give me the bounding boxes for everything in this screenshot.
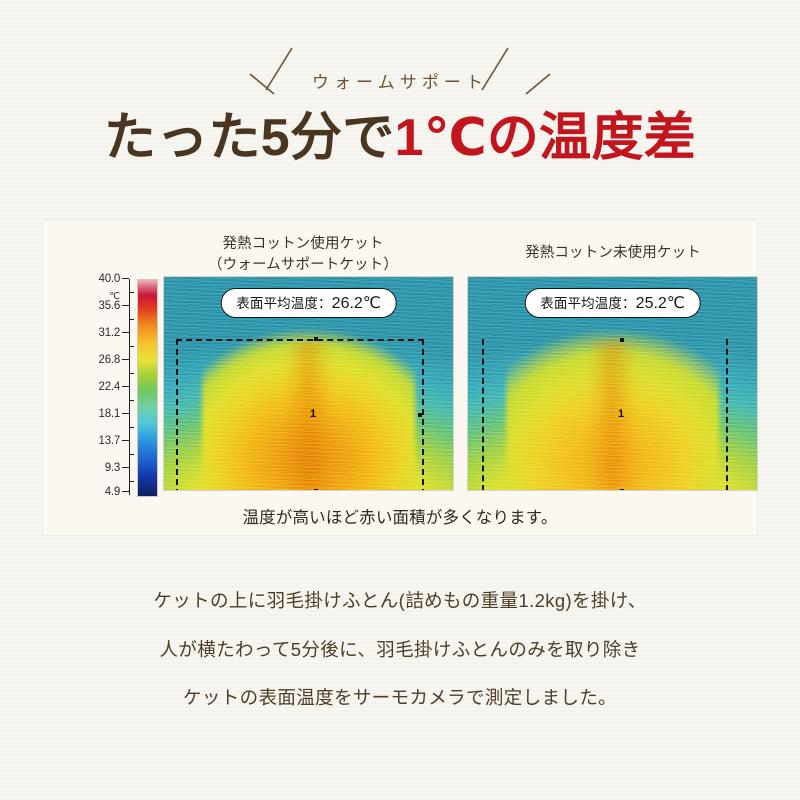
headline-brown: たった5分で — [104, 109, 394, 167]
comparison-card: 発熱コットン使用ケット （ウォームサポートケット） 発熱コットン未使用ケット 4… — [43, 220, 757, 535]
headline-red: 1℃の温度差 — [395, 109, 696, 167]
panel-title-left-line1: 発熱コットン使用ケット — [153, 234, 453, 255]
colorbar-axis-line — [129, 279, 130, 495]
badge-label-right: 表面平均温度： — [540, 296, 635, 311]
panel-title-right-line1: 発熱コットン未使用ケット — [463, 243, 763, 264]
measurement-box-right — [482, 339, 728, 491]
decorative-spark-right — [452, 46, 572, 106]
colorbar-tick-7: 9.3 — [105, 462, 129, 474]
measurement-box-left — [176, 339, 424, 491]
method-line-2: 人が横たわって5分後に、羽毛掛けふとんのみを取り除き — [0, 641, 800, 660]
colorbar-tick-4: 22.4 — [99, 381, 129, 393]
method-line-3: ケットの表面温度をサーモカメラで測定しました。 — [0, 689, 800, 708]
card-caption: 温度が高いほど赤い面積が多くなります。 — [43, 504, 757, 528]
temperature-colorbar-legend: 40.0 35.6 31.2 26.8 22.4 18.1 13.7 9.3 4… — [65, 276, 157, 498]
colorbar-tick-8: 4.9 — [105, 486, 129, 498]
panel-title-left: 発熱コットン使用ケット （ウォームサポートケット） — [153, 234, 453, 276]
panel-title-right: 発熱コットン未使用ケット — [463, 243, 763, 264]
measurement-number-right: 1 — [618, 408, 624, 420]
method-description: ケットの上に羽毛掛けふとん(詰めもの重量1.2kg)を掛け、 人が横たわって5分… — [0, 592, 800, 738]
average-temperature-badge-right: 表面平均温度：25.2℃ — [524, 288, 701, 318]
thermal-image-left: 1 表面平均温度：26.2℃ — [163, 276, 454, 491]
measurement-number-left: 1 — [310, 408, 316, 420]
panel-title-left-line2: （ウォームサポートケット） — [153, 255, 453, 276]
colorbar-tick-3: 26.8 — [99, 354, 129, 366]
colorbar-tick-2: 31.2 — [99, 327, 129, 339]
colorbar-tick-6: 13.7 — [99, 435, 129, 447]
average-temperature-badge-left: 表面平均温度：26.2℃ — [220, 288, 397, 318]
colorbar-tick-5: 18.1 — [99, 408, 129, 420]
eyebrow-row: ウォームサポート — [0, 60, 800, 100]
badge-value-left: 26.2℃ — [332, 295, 381, 312]
colorbar-unit-label: ℃ — [109, 291, 120, 302]
colorbar-tick-labels: 40.0 35.6 31.2 26.8 22.4 18.1 13.7 9.3 4… — [65, 276, 129, 498]
thermal-image-right: 1 表面平均温度：25.2℃ — [467, 276, 758, 491]
badge-value-right: 25.2℃ — [636, 295, 685, 312]
colorbar-gradient — [137, 279, 158, 497]
colorbar-tick-0: 40.0 — [99, 273, 129, 285]
page-title: たった5分で1℃の温度差 — [0, 111, 800, 166]
badge-label-left: 表面平均温度： — [236, 296, 331, 311]
method-line-1: ケットの上に羽毛掛けふとん(詰めもの重量1.2kg)を掛け、 — [0, 592, 800, 611]
